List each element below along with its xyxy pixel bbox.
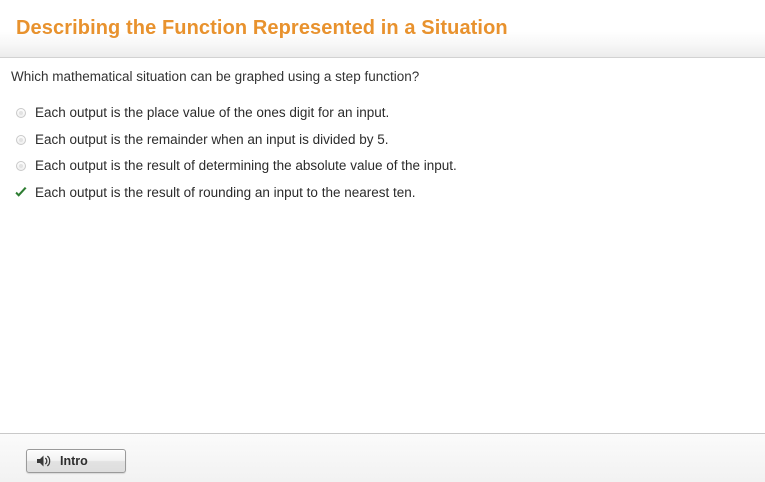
page-header: Describing the Function Represented in a… [0, 0, 765, 58]
intro-audio-button[interactable]: Intro [26, 449, 126, 473]
answer-option-3-label: Each output is the result of determining… [35, 153, 457, 180]
answer-option-4[interactable]: Each output is the result of rounding an… [0, 180, 765, 207]
answer-option-1[interactable]: Each output is the place value of the on… [0, 100, 765, 127]
radio-unselected-icon[interactable] [14, 100, 28, 127]
page-title: Describing the Function Represented in a… [16, 17, 508, 40]
page-footer: Intro [0, 433, 765, 482]
check-icon [14, 180, 28, 207]
answer-option-2-label: Each output is the remainder when an inp… [35, 127, 388, 154]
speaker-icon [36, 454, 52, 468]
intro-button-label: Intro [60, 455, 88, 468]
answer-options-list: Each output is the place value of the on… [0, 100, 765, 206]
answer-option-3[interactable]: Each output is the result of determining… [0, 153, 765, 180]
answer-option-1-label: Each output is the place value of the on… [35, 100, 389, 127]
answer-option-4-label: Each output is the result of rounding an… [35, 180, 416, 207]
answer-option-2[interactable]: Each output is the remainder when an inp… [0, 127, 765, 154]
radio-unselected-icon[interactable] [14, 127, 28, 154]
question-panel: Which mathematical situation can be grap… [0, 58, 765, 433]
question-text: Which mathematical situation can be grap… [11, 69, 419, 84]
radio-unselected-icon[interactable] [14, 153, 28, 180]
